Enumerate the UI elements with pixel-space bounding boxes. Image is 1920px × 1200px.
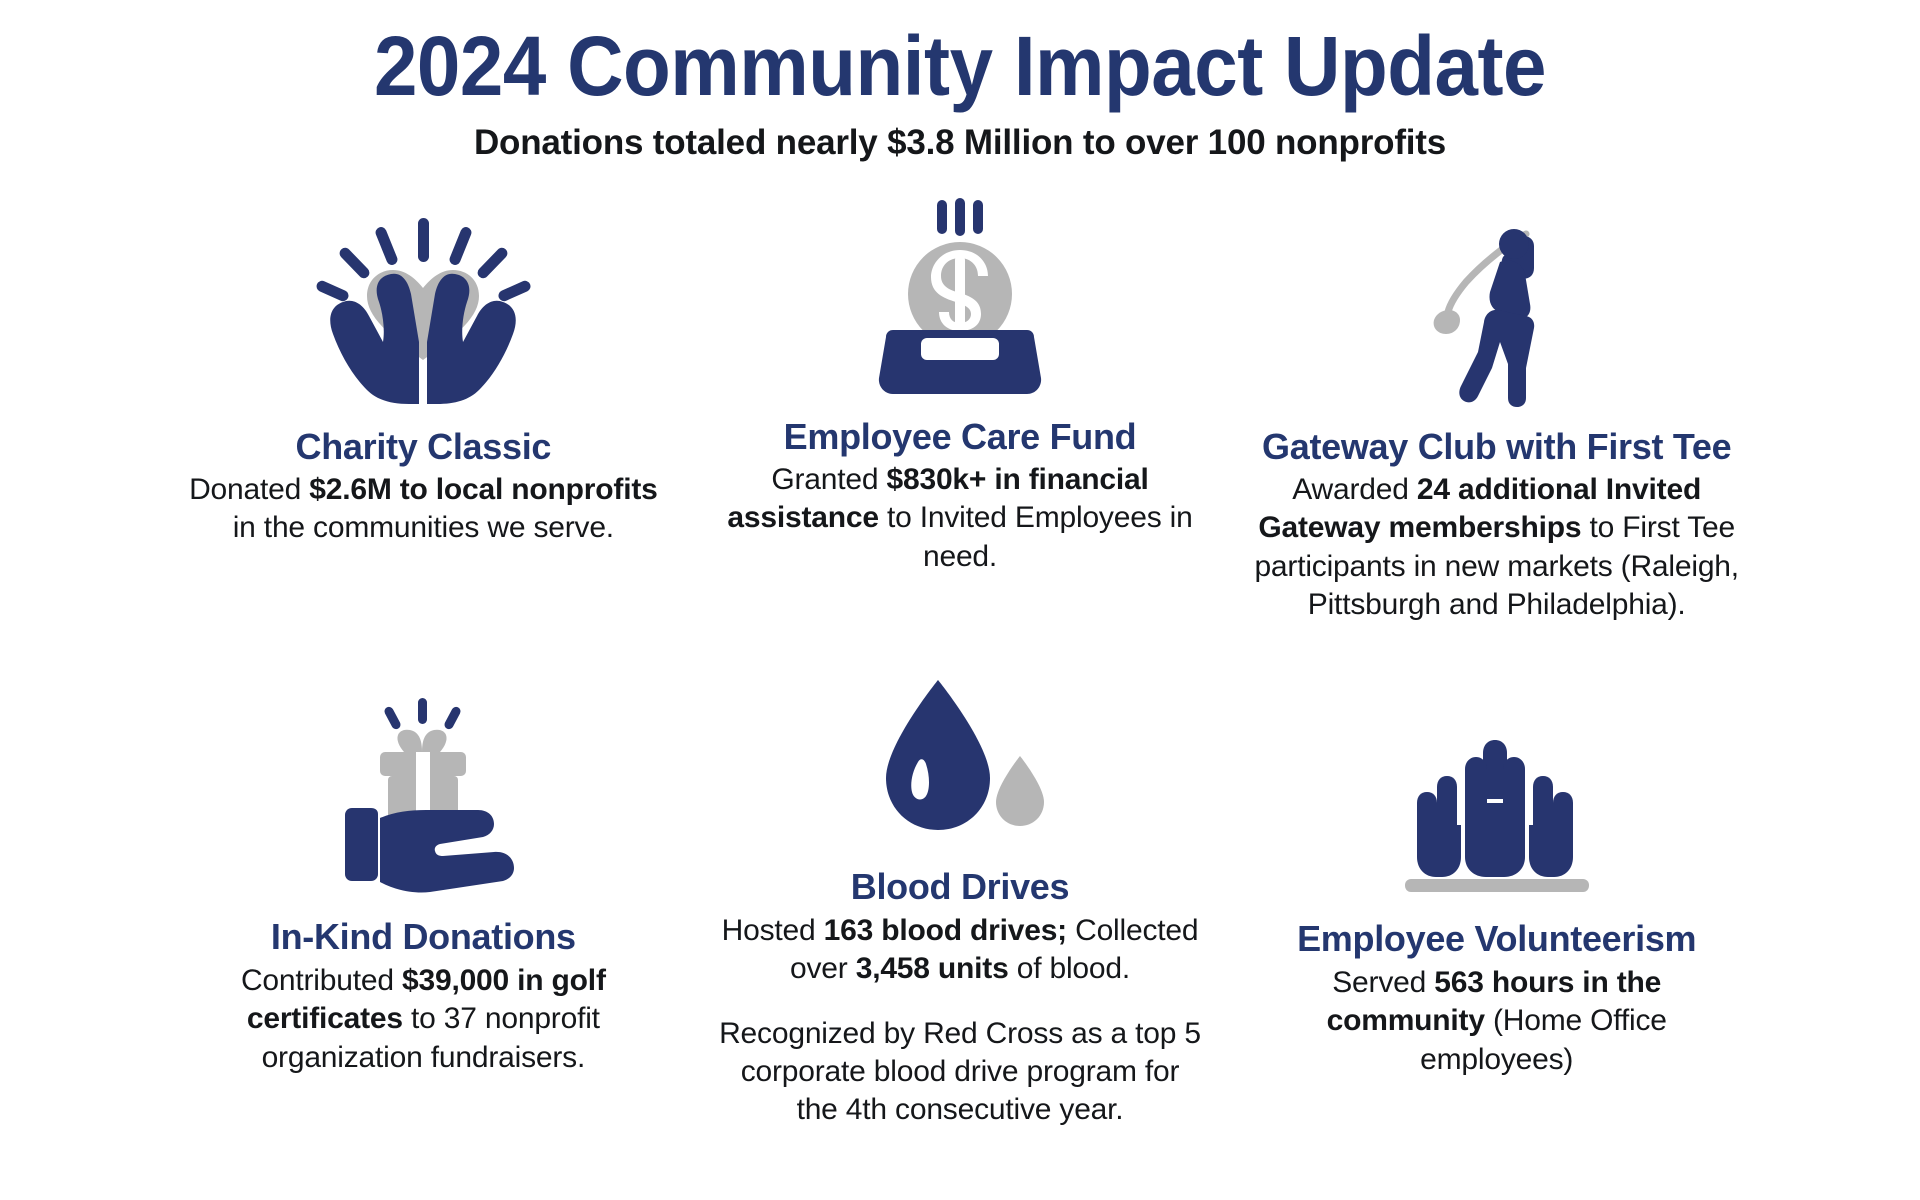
icon-container — [181, 698, 666, 898]
icon-container — [1254, 700, 1739, 900]
icon-container — [181, 203, 666, 408]
body-text-plain: to Invited Employees in need. — [879, 501, 1193, 572]
donation-box-dollar-icon — [845, 198, 1075, 398]
body-text-bold: $2.6M to local nonprofits — [309, 473, 657, 506]
card-in-kind-donations: In-Kind Donations Contributed $39,000 in… — [155, 638, 692, 1077]
golfer-icon — [1422, 218, 1572, 408]
body-text-bold: 3,458 units — [856, 952, 1009, 985]
card-body: Hosted 163 blood drives; Collected over … — [718, 912, 1203, 989]
card-body: Served 563 hours in the community (Home … — [1254, 964, 1739, 1079]
body-text-plain: Served — [1332, 966, 1434, 999]
icon-container — [718, 193, 1203, 398]
card-employee-care-fund: Employee Care Fund Granted $830k+ in fin… — [692, 193, 1229, 577]
page-subtitle: Donations totaled nearly $3.8 Million to… — [0, 124, 1920, 163]
body-text-plain: in the communities we serve. — [233, 511, 614, 544]
card-body: Donated $2.6M to local nonprofits in the… — [181, 471, 666, 548]
card-employee-volunteerism: Employee Volunteerism Served 563 hours i… — [1228, 638, 1765, 1079]
body-text-plain: Hosted — [722, 914, 824, 947]
body-text-plain: Awarded — [1292, 473, 1417, 506]
card-body: Granted $830k+ in financial assistance t… — [718, 461, 1203, 576]
body-text-plain: Granted — [771, 463, 886, 496]
page-header: 2024 Community Impact Update Donations t… — [0, 0, 1920, 163]
page-title: 2024 Community Impact Update — [67, 24, 1853, 108]
card-title: Gateway Club with First Tee — [1254, 426, 1739, 467]
body-text-plain: Donated — [189, 473, 309, 506]
infographic-page: 2024 Community Impact Update Donations t… — [0, 0, 1920, 1200]
body-text-plain: of blood. — [1009, 952, 1130, 985]
card-title: Blood Drives — [718, 866, 1203, 907]
icon-container — [1254, 203, 1739, 408]
cards-row-top: Charity Classic Donated $2.6M to local n… — [155, 193, 1765, 625]
impact-cards-grid: Charity Classic Donated $2.6M to local n… — [155, 163, 1765, 1130]
icon-container — [718, 648, 1203, 848]
card-title: Employee Care Fund — [718, 416, 1203, 457]
cards-row-bottom: In-Kind Donations Contributed $39,000 in… — [155, 638, 1765, 1129]
card-body: Awarded 24 additional Invited Gateway me… — [1254, 471, 1739, 625]
blood-drop-icon — [860, 668, 1060, 848]
card-title: Employee Volunteerism — [1254, 918, 1739, 959]
hands-holding-heart-icon — [313, 218, 533, 408]
body-text-bold: 163 blood drives; — [824, 914, 1067, 947]
body-text-plain: Contributed — [241, 964, 402, 997]
card-title: Charity Classic — [181, 426, 666, 467]
raised-hands-icon — [1387, 725, 1607, 900]
card-gateway-club-first-tee: Gateway Club with First Tee Awarded 24 a… — [1228, 193, 1765, 625]
card-body: Contributed $39,000 in golf certificates… — [181, 962, 666, 1077]
hand-holding-gift-icon — [318, 698, 528, 898]
card-charity-classic: Charity Classic Donated $2.6M to local n… — [155, 193, 692, 548]
card-title: In-Kind Donations — [181, 916, 666, 957]
card-blood-drives: Blood Drives Hosted 163 blood drives; Co… — [692, 638, 1229, 1129]
card-body-secondary: Recognized by Red Cross as a top 5 corpo… — [718, 1015, 1203, 1130]
